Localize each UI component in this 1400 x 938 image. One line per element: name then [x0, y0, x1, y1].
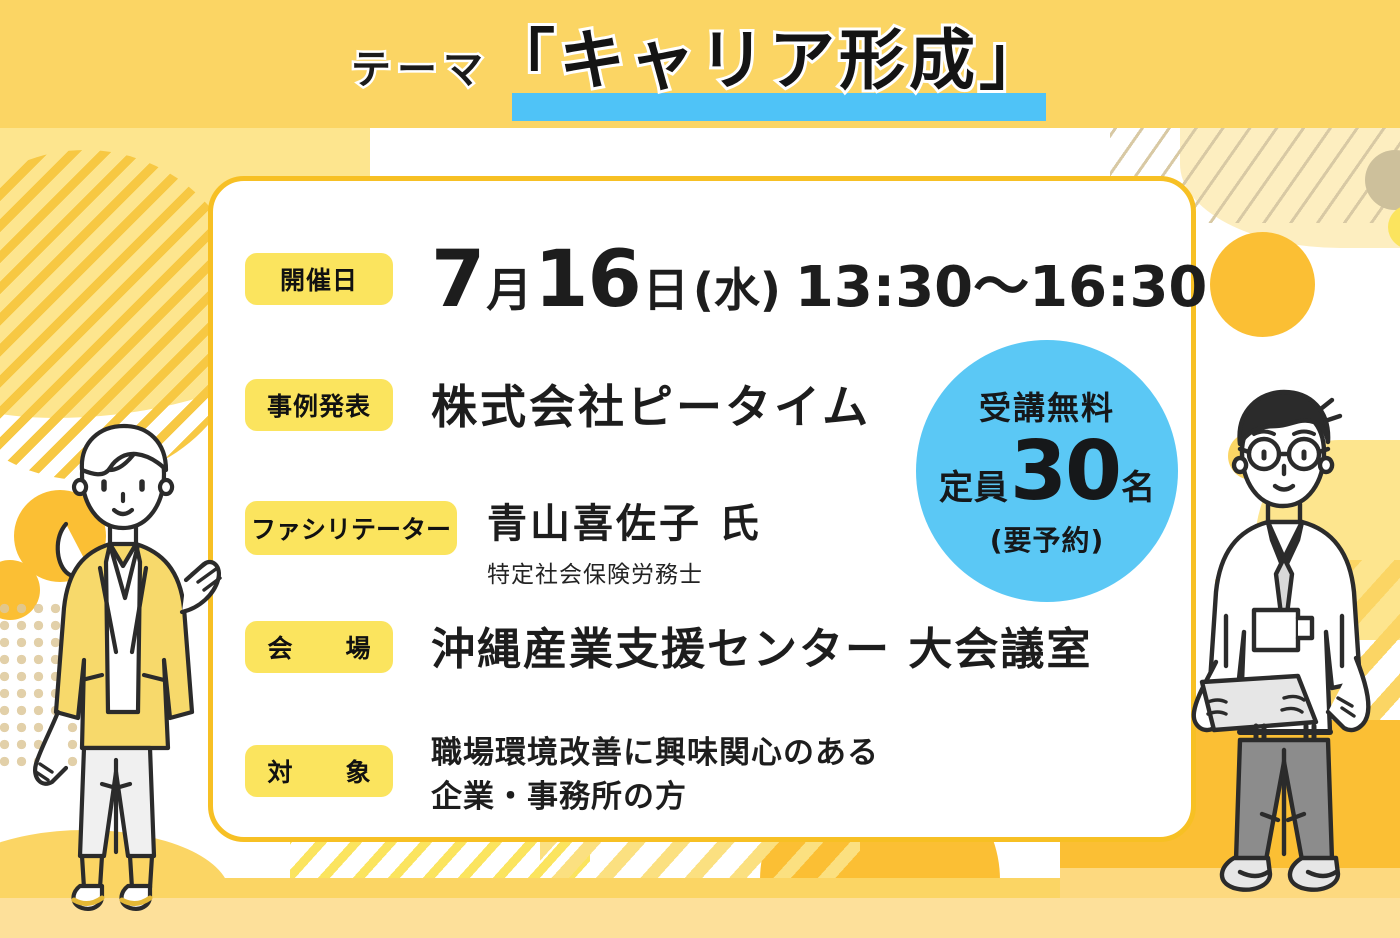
header-prefix: テーマ	[351, 50, 489, 90]
label-pill-target: 対 象	[245, 745, 393, 797]
detail-row-date: 開催日 7 月 16 日 (水) 13:30〜16:30	[245, 241, 1207, 319]
detail-row-target: 対 象 職場環境改善に興味関心のある 企業・事務所の方	[245, 731, 879, 819]
detail-row-facilitator: ファシリテーター 青山喜佐子 氏 特定社会保険労務士	[245, 491, 762, 589]
date-weekday: (水)	[693, 267, 781, 313]
header-band: テーマ 「キャリア形成」	[0, 0, 1400, 128]
man-with-tablet-illustration	[1180, 382, 1400, 922]
poster-canvas: テーマ 「キャリア形成」 開催日 7 月 16 日 (水) 13:30〜16:3…	[0, 0, 1400, 938]
detail-row-venue: 会 場 沖縄産業支援センター 大会議室	[245, 613, 1092, 677]
date-month-unit: 月	[486, 267, 532, 313]
value-venue: 沖縄産業支援センター 大会議室	[431, 613, 1092, 677]
value-target-line1: 職場環境改善に興味関心のある	[431, 731, 879, 775]
page-title: テーマ 「キャリア形成」	[351, 28, 1049, 100]
value-facilitator-title: 特定社会保険労務士	[487, 555, 762, 589]
badge-capacity-unit: 名	[1121, 471, 1155, 505]
label-pill-date: 開催日	[245, 253, 393, 305]
value-facilitator-name: 青山喜佐子 氏	[487, 491, 762, 549]
decor-blob-top-right	[1180, 128, 1400, 248]
header-theme: 「キャリア形成」	[489, 28, 1049, 94]
label-pill-presenter: 事例発表	[245, 379, 393, 431]
date-time-range: 13:30〜16:30	[795, 260, 1208, 316]
badge-capacity-label: 定員	[939, 471, 1009, 505]
value-presenter-company: 株式会社ピータイム	[431, 371, 871, 437]
woman-presenting-illustration	[30, 412, 240, 920]
decor-circle-gold-card-edge	[1210, 232, 1315, 337]
label-pill-venue: 会 場	[245, 621, 393, 673]
date-day-number: 16	[534, 241, 641, 319]
decor-dot-tan-top-right	[1365, 150, 1400, 210]
badge-free-text: 受講無料	[979, 383, 1115, 429]
date-day-unit: 日	[643, 267, 689, 313]
detail-row-presenter: 事例発表 株式会社ピータイム	[245, 371, 871, 437]
free-capacity-badge: 受講無料 定員 30 名 (要予約)	[916, 340, 1178, 602]
label-pill-facilitator: ファシリテーター	[245, 501, 457, 555]
date-month-number: 7	[431, 241, 484, 319]
value-date: 7 月 16 日 (水) 13:30〜16:30	[431, 241, 1207, 319]
value-target-line2: 企業・事務所の方	[431, 775, 879, 819]
decor-dot-yellow-top-right	[1388, 205, 1400, 249]
badge-capacity-number: 30	[1010, 431, 1120, 513]
badge-reservation-note: (要予約)	[990, 519, 1105, 559]
